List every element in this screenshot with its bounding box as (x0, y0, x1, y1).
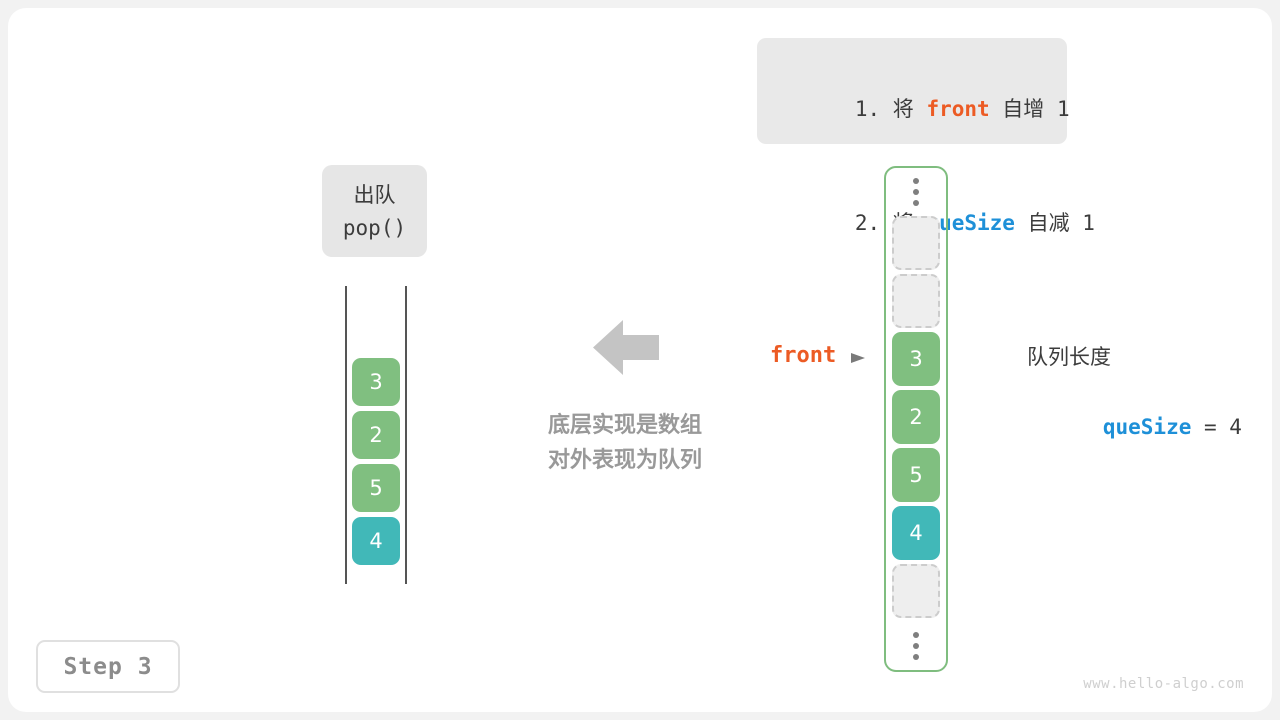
hint-line-1-suffix: 自增 1 (990, 97, 1070, 121)
queue-size-var-name: queSize (1103, 415, 1192, 439)
queue-size-annotation: 队列长度 queSize = 4 (1027, 341, 1242, 481)
queue-size-value: queSize = 4 (1027, 373, 1242, 481)
pop-title: 出队 (322, 179, 427, 212)
center-caption-line-1: 底层实现是数组 (510, 408, 740, 443)
queue-cell-list: 3254 (352, 358, 400, 570)
array-cell-list: 3254 (892, 216, 940, 622)
arrow-right-small-icon (851, 350, 867, 364)
queue-rail-right (405, 286, 407, 584)
array-cell-empty (892, 274, 940, 328)
queue-cell: 3 (352, 358, 400, 406)
hint-line-1-prefix: 1. 将 (855, 97, 927, 121)
step-badge: Step 3 (36, 640, 180, 693)
array-cell: 4 (892, 506, 940, 560)
vertical-ellipsis-icon-top (913, 168, 919, 216)
pop-method: pop() (322, 212, 427, 245)
queue-size-equals: = 4 (1191, 415, 1242, 439)
array-container: 3254 (884, 166, 948, 672)
hint-box: 1. 将 front 自增 1 2. 将 queSize 自减 1 (757, 38, 1067, 144)
pop-operation-box: 出队 pop() (322, 165, 427, 257)
hint-line-2-suffix: 自减 1 (1015, 211, 1095, 235)
center-caption: 底层实现是数组 对外表现为队列 (510, 408, 740, 478)
queue-rail-left (345, 286, 347, 584)
queue-cell: 5 (352, 464, 400, 512)
center-caption-line-2: 对外表现为队列 (510, 443, 740, 478)
hint-line-1: 1. 将 front 自增 1 (779, 52, 1045, 166)
queue-cell: 4 (352, 517, 400, 565)
array-cell-empty (892, 216, 940, 270)
arrow-left-large-icon (593, 320, 659, 375)
queue-cell: 2 (352, 411, 400, 459)
array-cell: 2 (892, 390, 940, 444)
hint-line-1-keyword: front (926, 97, 989, 121)
array-cell: 3 (892, 332, 940, 386)
queue-size-label: 队列长度 (1027, 341, 1242, 373)
front-pointer-label: front (770, 343, 836, 368)
diagram-canvas: 1. 将 front 自增 1 2. 将 queSize 自减 1 出队 pop… (0, 0, 1280, 720)
array-cell: 5 (892, 448, 940, 502)
vertical-ellipsis-icon-bottom (913, 622, 919, 670)
array-cell-empty (892, 564, 940, 618)
watermark: www.hello-algo.com (1083, 676, 1244, 692)
